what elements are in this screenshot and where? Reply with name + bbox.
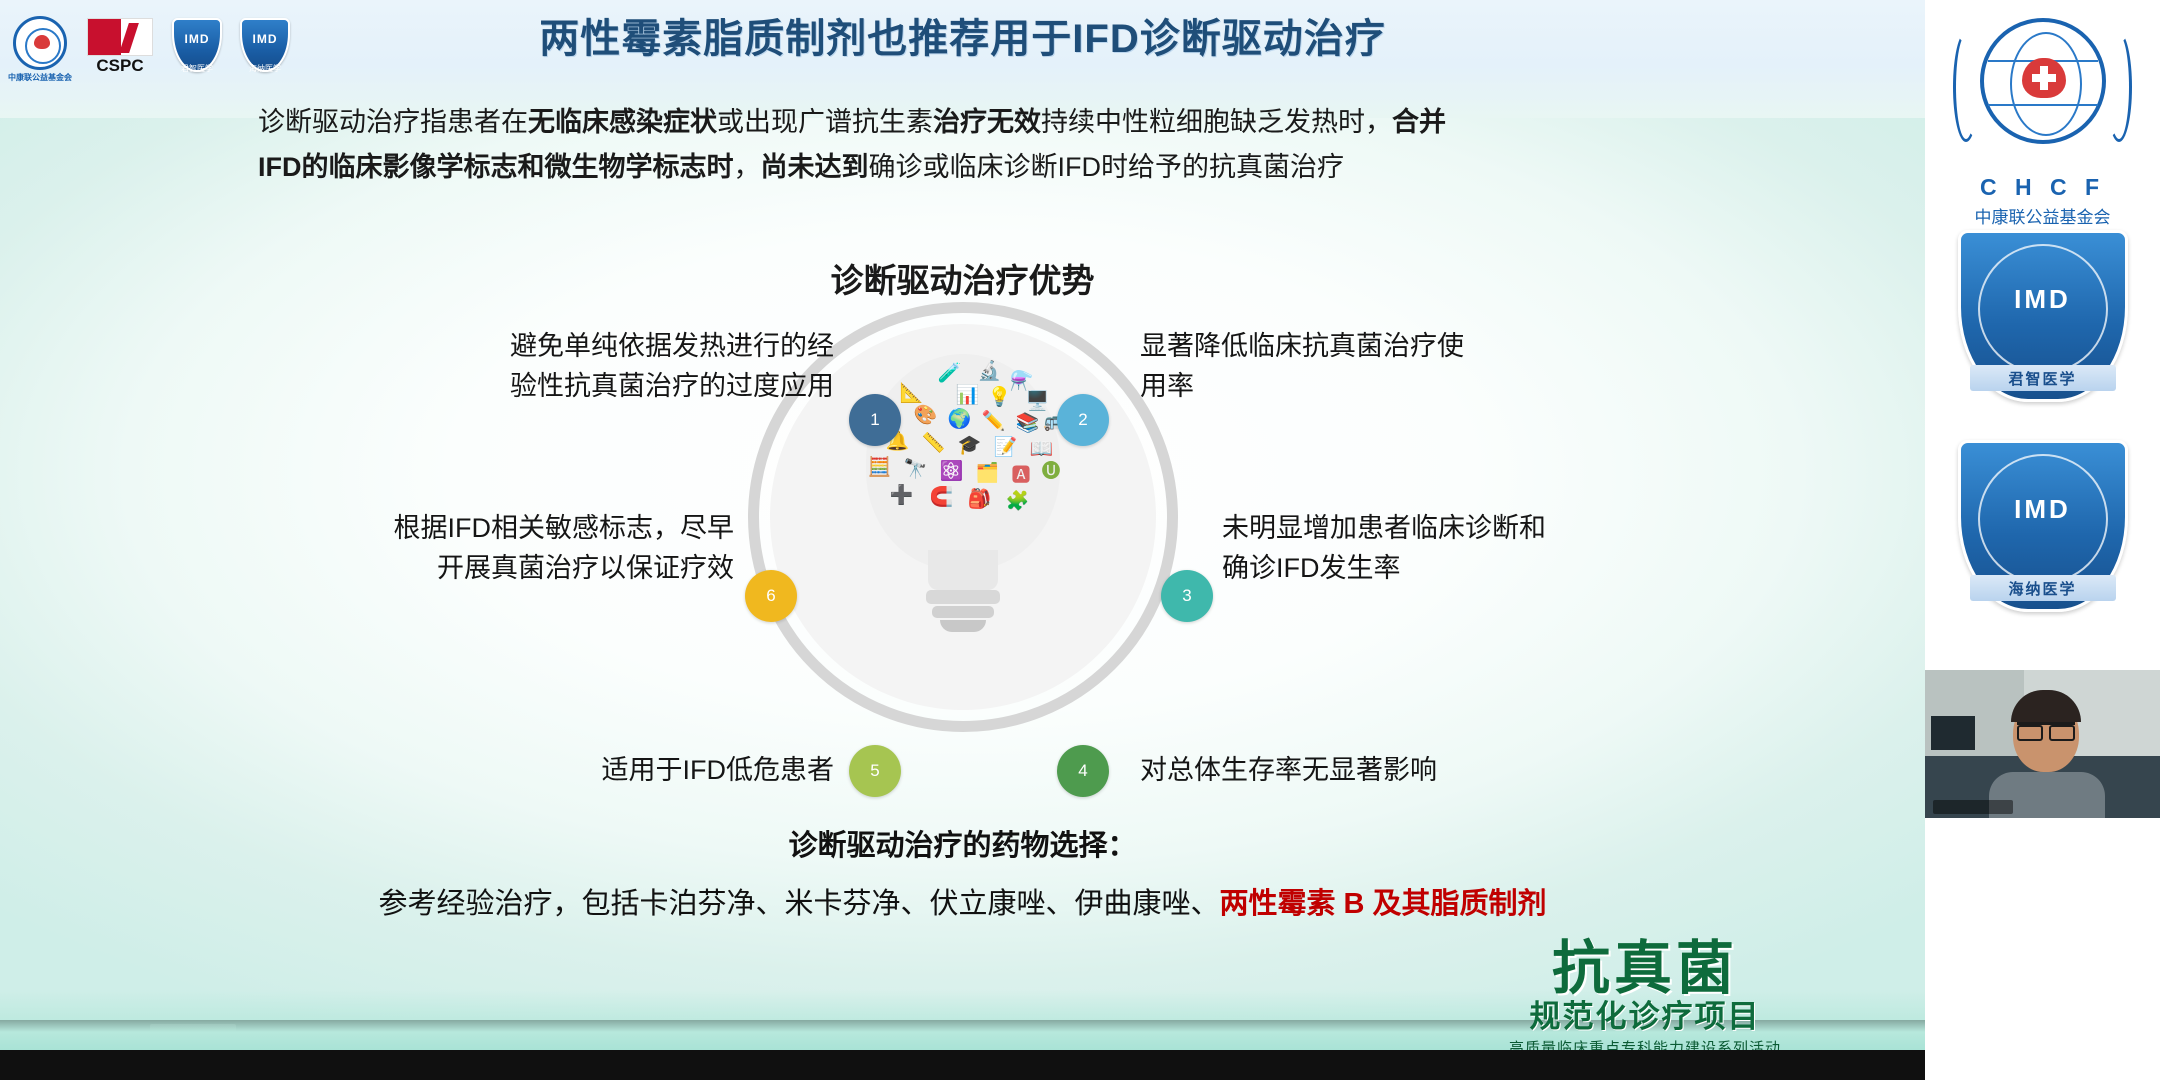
sidebar-imd-badge-2-abbr: IMD [1958,494,2128,525]
diagram-label-2: 显著降低临床抗真菌治疗使 用率 [1140,326,1660,406]
bulb-icon-17: 📖 [1030,440,1054,459]
diagram-node-5[interactable]: 5 [849,745,901,797]
drug-highlight-text: 两性霉素 B 及其脂质制剂 [1219,888,1546,920]
bulb-base-3 [940,620,986,632]
intro-paragraph: 诊断驱动治疗指患者在无临床感染症状或出现广谱抗生素治疗无效持续中性粒细胞缺乏发热… [258,100,1448,190]
bulb-base-1 [926,590,1000,604]
bulb-icon-4: 📊 [956,386,980,405]
campaign-logo-title: 抗真菌 [1380,940,1910,998]
bulb-icon-0: 🧪 [938,364,962,383]
drug-selection-line: 参考经验治疗，包括卡泊芬净、米卡芬净、伏立康唑、伊曲康唑、两性霉素 B 及其脂质… [0,880,1925,922]
intro-bold-4: 尚未达到 [761,152,869,182]
chcf-logo-caption: 中康联公益基金会 [8,72,72,83]
bulb-icon-22: 🅰 [1012,466,1031,485]
diagram-label-1: 避免单纯依据发热进行的经 验性抗真菌治疗的过度应用 [318,326,834,406]
webcam-name-label [1933,800,2013,814]
bulb-icon-6: 🖥️ [1026,392,1050,411]
bulb-icon-10: ✏️ [982,412,1006,431]
diagram-title: 诊断驱动治疗优势 [0,254,1925,302]
node-6-number: 6 [766,586,775,606]
intro-seg-5: 确诊或临床诊断IFD时给予的抗真菌治疗 [869,152,1345,182]
bulb-icon-15: 🎓 [958,436,982,455]
bulb-icon-23: 🅤 [1042,462,1061,481]
education-icon-cluster: 🧪🔬⚗️📐📊💡🖥️🍎🎨🌍✏️📚🚌🔔📏🎓📝📖🧮🔭⚛️🗂️🅰🅤➕🧲🎒🧩 [860,362,1066,562]
node-1-number: 1 [870,410,879,430]
intro-seg-3: 持续中性粒细胞缺乏发热时， [1041,107,1392,137]
imd-shield-2-label: IMD [236,32,294,46]
node-5-number: 5 [870,761,879,781]
sidebar-imd-badge-1-band: 君智医学 [1970,365,2116,391]
bulb-base-2 [932,606,994,618]
webcam-monitor [1931,716,1975,750]
bulb-icon-5: 💡 [988,388,1012,407]
webcam-video-tile[interactable] [1925,670,2160,818]
chcf-globe-icon [13,16,67,70]
bulb-icon-20: ⚛️ [940,462,964,481]
bulb-icon-27: 🧩 [1006,492,1030,511]
sidebar-imd-badge-1: IMD 君智医学 [1958,230,2128,415]
bulb-icon-16: 📝 [994,438,1018,457]
bulb-icon-9: 🌍 [948,410,972,429]
chcf-logo: 中康联公益基金会 [8,16,72,83]
sidebar-imd-badge-2: IMD 海纳医学 [1958,440,2128,625]
cspc-logo-text: CSPC [82,57,158,76]
bulb-icon-21: 🗂️ [976,464,1000,483]
intro-seg-2: 或出现广谱抗生素 [717,107,933,137]
diagram-node-3[interactable]: 3 [1161,570,1213,622]
globe-latitude-line [1988,104,2098,106]
diagram-node-4[interactable]: 4 [1057,745,1109,797]
bulb-icon-26: 🎒 [968,490,992,509]
bulb-icon-14: 📏 [922,434,946,453]
bulb-icon-24: ➕ [890,486,914,505]
bulb-icon-19: 🔭 [904,460,928,479]
presentation-slide: 中康联公益基金会 CSPC IMD 君智医学 IMD 海纳医学 两性霉素脂质制剂… [0,0,1925,1050]
screen-root: 中康联公益基金会 CSPC IMD 君智医学 IMD 海纳医学 两性霉素脂质制剂… [0,0,2160,1080]
campaign-logo-subtitle: 规范化诊疗项目 [1380,998,1910,1035]
bulb-icon-2: ⚗️ [1010,372,1034,391]
wreath-right-icon [2106,32,2132,142]
heart-cross-icon [2022,58,2066,98]
bulb-icon-11: 📚 [1016,414,1040,433]
drug-list-text: 参考经验治疗，包括卡泊芬净、米卡芬净、伏立康唑、伊曲康唑、 [378,888,1219,920]
bulb-icon-8: 🎨 [914,406,938,425]
chcf-globe-icon [1980,18,2106,144]
bulb-icon-3: 📐 [900,384,924,403]
intro-seg-1: 诊断驱动治疗指患者在 [258,107,528,137]
campaign-logo-caption: 高质量临床重点专科能力建设系列活动 [1380,1037,1910,1050]
sidebar-imd-badge-1-abbr: IMD [1958,284,2128,315]
drug-selection-heading: 诊断驱动治疗的药物选择： [0,822,1925,864]
imd-shield-2-band: 海纳医学 [240,63,290,74]
imd-shield-1: IMD 君智医学 [168,16,226,82]
cspc-logo: CSPC [82,16,158,76]
sidebar-chcf-logo: C H C F 中康联公益基金会 [1925,10,2160,228]
diagram-label-5: 适用于IFD低危患者 [300,750,834,790]
diagram-node-6[interactable]: 6 [745,570,797,622]
node-4-number: 4 [1078,761,1087,781]
bulb-icon-18: 🧮 [868,458,892,477]
bulb-icon-1: 🔬 [978,362,1002,381]
intro-seg-4: ， [734,152,761,182]
webcam-person-glasses [2017,722,2075,734]
diagram-label-6: 根据IFD相关敏感标志，尽早 开展真菌治疗以保证疗效 [190,508,734,588]
header-logo-group: 中康联公益基金会 CSPC IMD 君智医学 IMD 海纳医学 [8,16,294,83]
diagram-node-2[interactable]: 2 [1057,394,1109,446]
node-3-number: 3 [1182,586,1191,606]
imd-shield-1-label: IMD [168,32,226,46]
diagram-label-3: 未明显增加患者临床诊断和 确诊IFD发生率 [1222,508,1742,588]
sidebar-imd-badge-2-band: 海纳医学 [1970,575,2116,601]
intro-bold-1: 无临床感染症状 [528,107,717,137]
intro-bold-2: 治疗无效 [933,107,1041,137]
advantages-diagram: 诊断驱动治疗优势 🧪🔬⚗️📐📊💡🖥️🍎🎨🌍✏️📚🚌🔔📏🎓📝📖🧮🔭⚛️🗂️🅰🅤➕🧲… [0,240,1925,800]
cspc-mark-icon [87,18,153,56]
sidebar-chcf-name: 中康联公益基金会 [1925,203,2160,228]
node-2-number: 2 [1078,410,1087,430]
diagram-label-4: 对总体生存率无显著影响 [1140,750,1660,790]
campaign-logo: 抗真菌 规范化诊疗项目 高质量临床重点专科能力建设系列活动 [1380,940,1910,1050]
sidebar-chcf-abbr: C H C F [1925,174,2160,201]
taskbar-tile[interactable] [150,1024,236,1046]
sidebar-lower-panel [1925,818,2160,1080]
imd-shield-2: IMD 海纳医学 [236,16,294,82]
wreath-left-icon [1953,32,1979,142]
bulb-icon-25: 🧲 [930,488,954,507]
diagram-node-1[interactable]: 1 [849,394,901,446]
imd-shield-1-band: 君智医学 [172,63,222,74]
